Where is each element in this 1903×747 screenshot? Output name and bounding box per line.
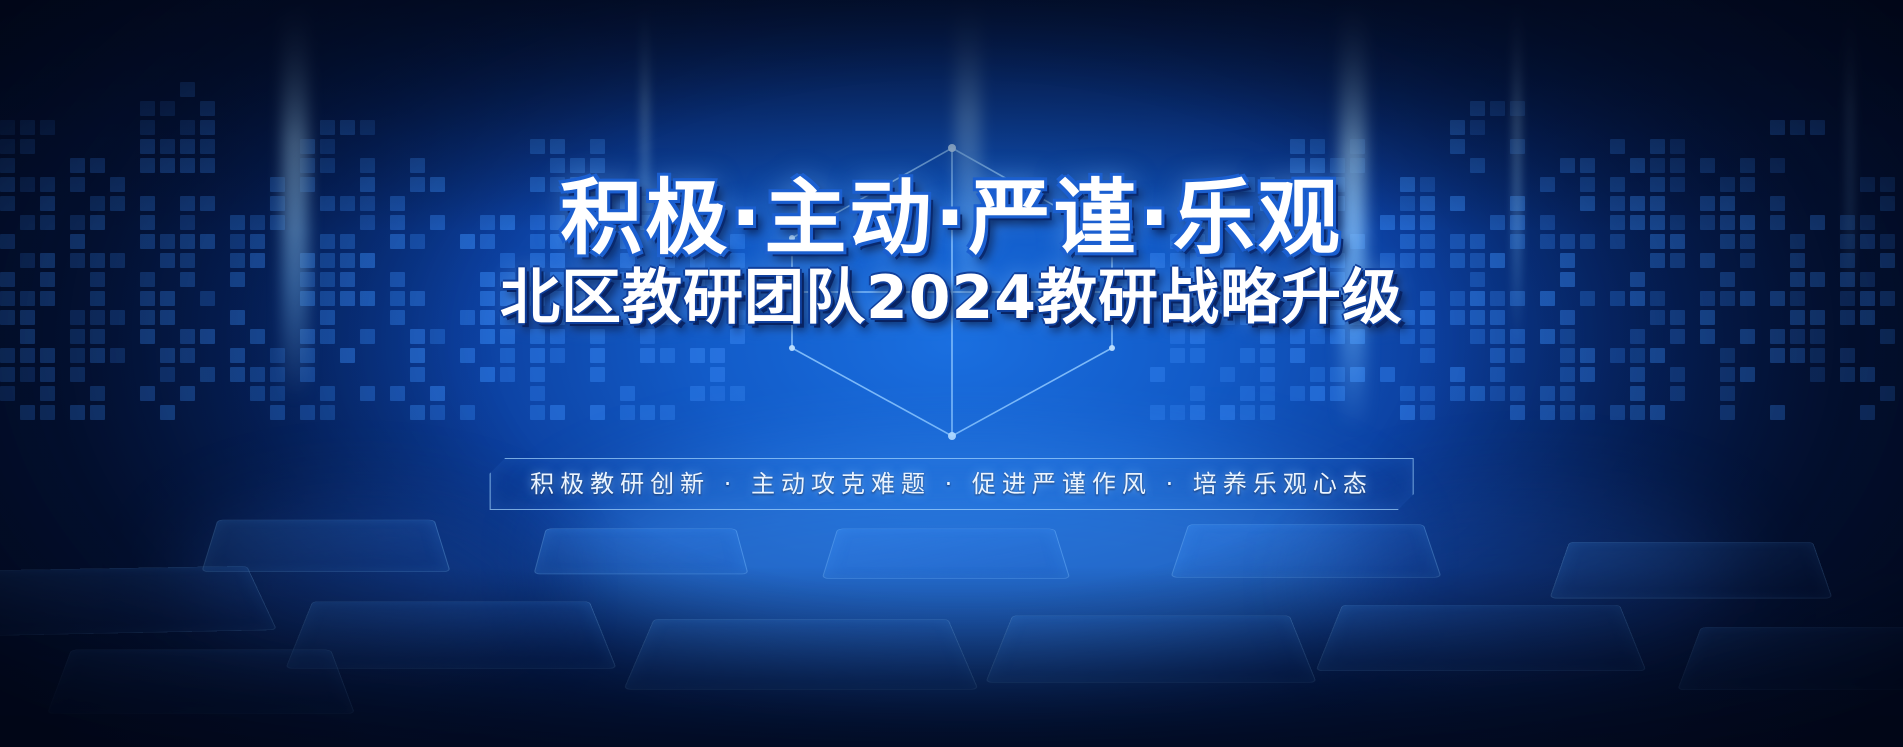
promo-banner: 积极·主动·严谨·乐观 北区教研团队2024教研战略升级 积极教研创新 · 主动… [0, 0, 1903, 747]
banner-sub-title: 北区教研团队2024教研战略升级 [0, 268, 1903, 328]
tagline-frame: 积极教研创新 · 主动攻克难题 · 促进严谨作风 · 培养乐观心态 [489, 458, 1414, 510]
banner-tagline: 积极教研创新 · 主动攻克难题 · 促进严谨作风 · 培养乐观心态 [530, 472, 1373, 496]
tagline-wrap: 积极教研创新 · 主动攻克难题 · 促进严谨作风 · 培养乐观心态 [489, 458, 1414, 510]
banner-main-title: 积极·主动·严谨·乐观 [0, 178, 1903, 260]
banner-content: 积极·主动·严谨·乐观 北区教研团队2024教研战略升级 积极教研创新 · 主动… [0, 0, 1903, 747]
